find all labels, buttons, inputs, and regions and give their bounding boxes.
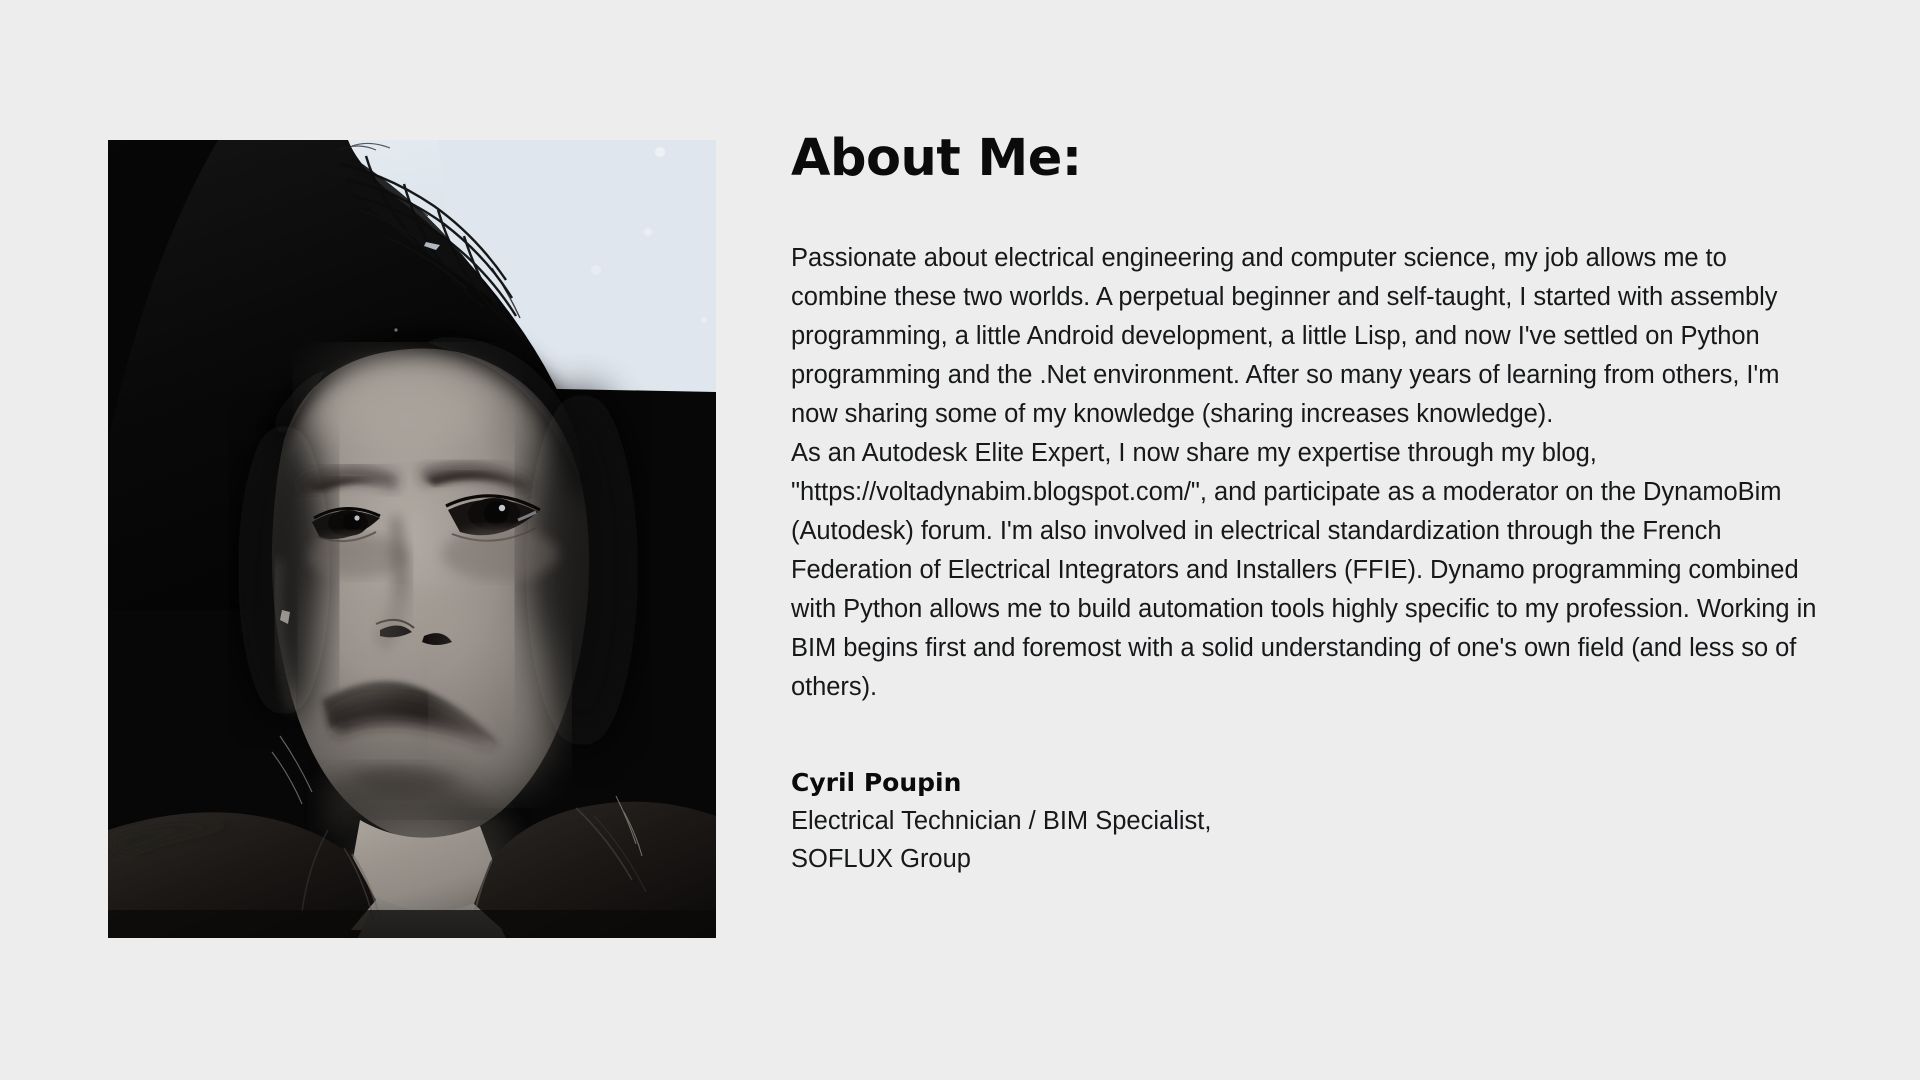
signature-name: Cyril Poupin [791, 764, 1821, 802]
page-title: About Me: [791, 128, 1821, 190]
portrait-photo [108, 140, 716, 938]
signature-block: Cyril Poupin Electrical Technician / BIM… [791, 764, 1821, 878]
about-me-page: About Me: Passionate about electrical en… [0, 0, 1920, 1080]
portrait-photo-graphic [108, 140, 716, 938]
about-text-column: About Me: Passionate about electrical en… [791, 128, 1821, 878]
about-body-text: Passionate about electrical engineering … [791, 239, 1821, 707]
signature-company: SOFLUX Group [791, 840, 1821, 878]
signature-role: Electrical Technician / BIM Specialist, [791, 802, 1821, 840]
